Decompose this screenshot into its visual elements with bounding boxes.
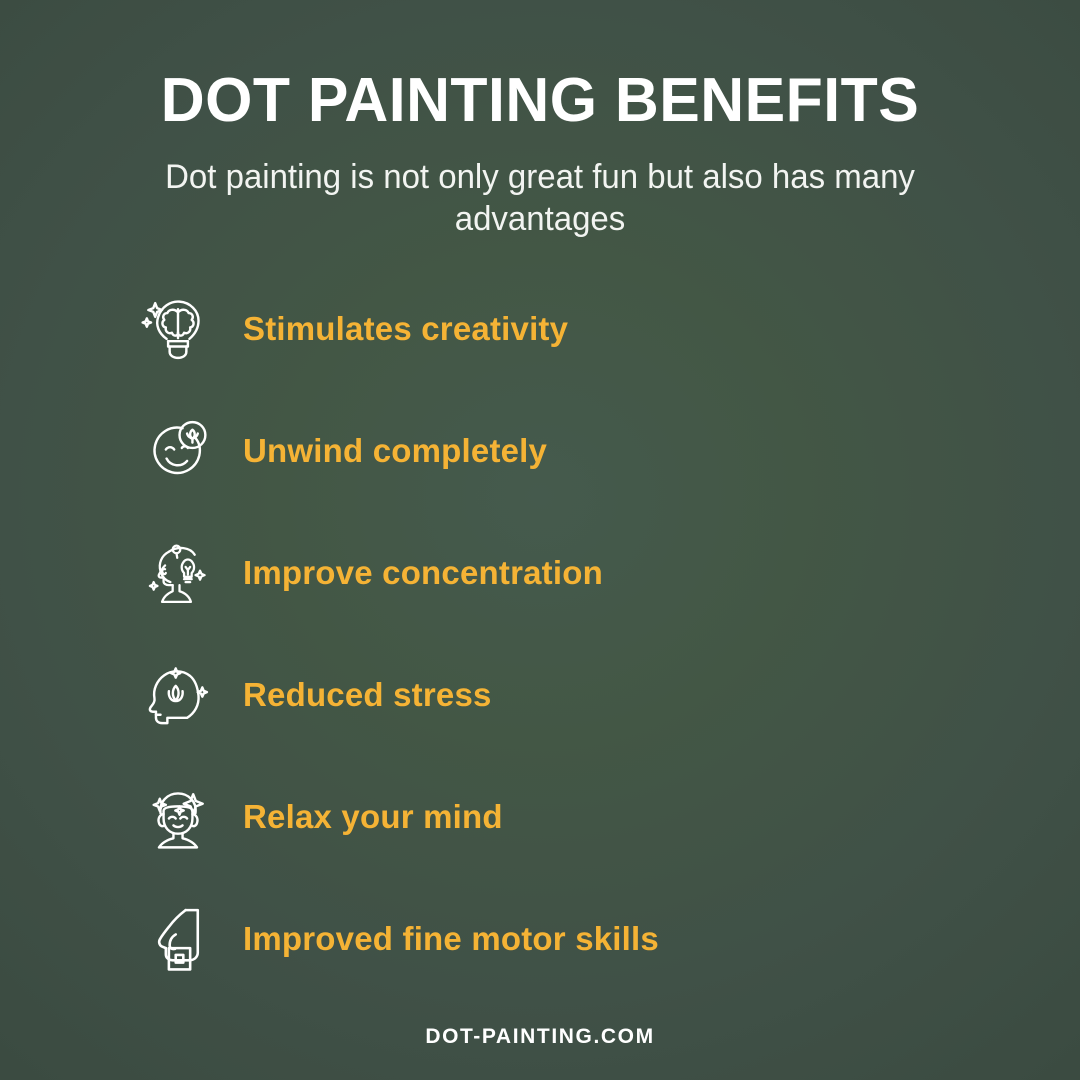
poster: DOT PAINTING BENEFITS Dot painting is no… — [0, 0, 1080, 1080]
page-subtitle: Dot painting is not only great fun but a… — [16, 156, 1064, 240]
benefits-list: Stimulates creativity — [137, 288, 997, 980]
benefit-label: Improved fine motor skills — [243, 920, 659, 958]
hand-holding-block-icon — [137, 898, 219, 980]
benefit-label: Stimulates creativity — [243, 310, 568, 348]
head-lightbulb-icon — [137, 532, 219, 614]
footer-website: DOT-PAINTING.COM — [0, 1025, 1080, 1049]
list-item: Reduced stress — [137, 654, 997, 736]
smiley-flower-icon — [137, 410, 219, 492]
brain-lightbulb-icon — [137, 288, 219, 370]
head-lotus-icon — [137, 654, 219, 736]
benefit-label: Improve concentration — [243, 554, 603, 592]
relaxed-face-sparkle-icon — [137, 776, 219, 858]
list-item: Relax your mind — [137, 776, 997, 858]
header: DOT PAINTING BENEFITS Dot painting is no… — [0, 70, 1080, 240]
list-item: Unwind completely — [137, 410, 997, 492]
page-title: DOT PAINTING BENEFITS — [11, 70, 1069, 132]
list-item: Improve concentration — [137, 532, 997, 614]
list-item: Stimulates creativity — [137, 288, 997, 370]
list-item: Improved fine motor skills — [137, 898, 997, 980]
benefit-label: Relax your mind — [243, 798, 503, 836]
benefit-label: Unwind completely — [243, 432, 547, 470]
benefit-label: Reduced stress — [243, 676, 492, 714]
